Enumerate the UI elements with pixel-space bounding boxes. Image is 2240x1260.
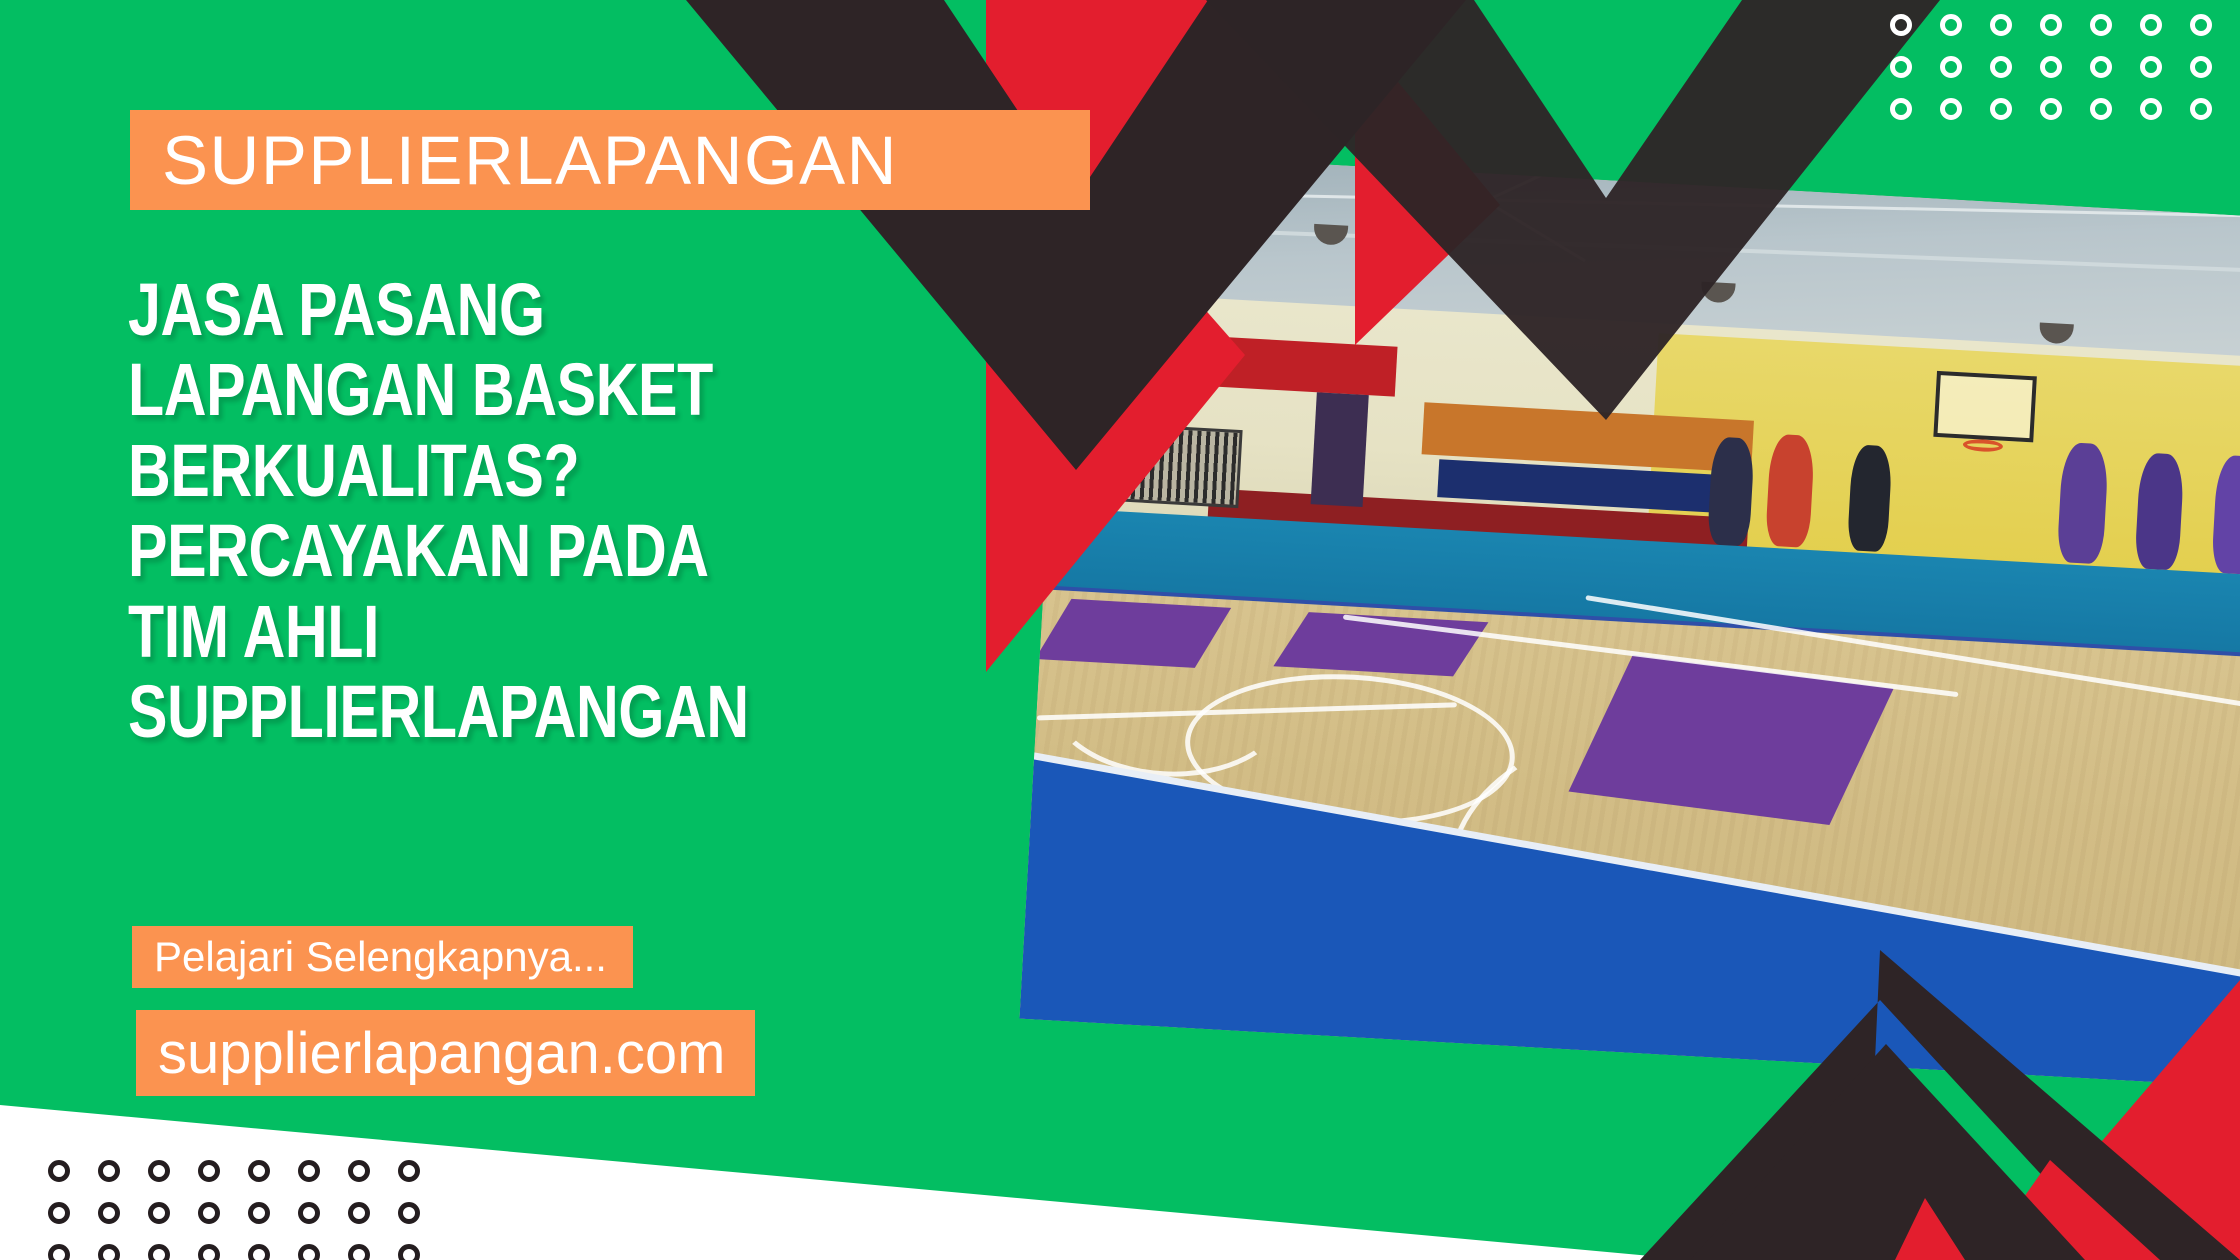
headline-line-1: JASA PASANG: [128, 272, 816, 347]
decorative-dot: [1890, 14, 1912, 36]
brand-badge: SUPPLIERLAPANGAN: [130, 110, 1090, 210]
brand-badge-label: SUPPLIERLAPANGAN: [130, 121, 898, 200]
decorative-dot: [2190, 56, 2212, 78]
decorative-dot: [48, 1244, 70, 1260]
headline-line-4: PERCAYAKAN PADA: [128, 513, 816, 588]
decorative-dot: [1940, 98, 1962, 120]
decorative-dot: [348, 1244, 370, 1260]
decorative-dot: [348, 1202, 370, 1224]
decorative-dot: [248, 1202, 270, 1224]
decorative-dot: [2040, 56, 2062, 78]
decorative-dot: [2140, 56, 2162, 78]
photo-poster: [1311, 392, 1369, 507]
decorative-dot: [98, 1202, 120, 1224]
decorative-dot: [1890, 56, 1912, 78]
decorative-dot: [198, 1244, 220, 1260]
decorative-dot: [2090, 56, 2112, 78]
decorative-dot: [1990, 98, 2012, 120]
decorative-dot: [2040, 98, 2062, 120]
dot-grid-top-right: [1890, 14, 2240, 140]
decorative-dot: [398, 1202, 420, 1224]
decorative-dot: [48, 1160, 70, 1182]
decorative-dot: [1990, 56, 2012, 78]
decorative-dot: [2090, 14, 2112, 36]
decorative-dot: [1940, 56, 1962, 78]
decorative-dot: [398, 1160, 420, 1182]
decorative-dot: [298, 1160, 320, 1182]
headline-line-2: LAPANGAN BASKET: [128, 352, 816, 427]
headline-line-5: TIM AHLI: [128, 594, 816, 669]
page-title: JASA PASANG LAPANGAN BASKET BERKUALITAS?…: [128, 272, 816, 755]
decorative-dot: [1940, 14, 1962, 36]
decorative-dot: [98, 1244, 120, 1260]
decorative-dot: [198, 1202, 220, 1224]
decorative-dot: [2140, 14, 2162, 36]
decorative-dot: [2190, 98, 2212, 120]
decorative-dot: [298, 1202, 320, 1224]
decorative-dot: [1990, 14, 2012, 36]
decorative-dot: [98, 1160, 120, 1182]
decorative-dot: [198, 1160, 220, 1182]
decorative-dot: [2140, 98, 2162, 120]
decorative-dot: [248, 1160, 270, 1182]
decorative-dot: [298, 1244, 320, 1260]
promo-banner: SUPPLIERLAPANGAN JASA PASANG LAPANGAN BA…: [0, 0, 2240, 1260]
decorative-dot: [1890, 98, 1912, 120]
decorative-dot: [2040, 14, 2062, 36]
decorative-dot: [2090, 98, 2112, 120]
decorative-dot: [148, 1160, 170, 1182]
headline-line-3: BERKUALITAS?: [128, 433, 816, 508]
photo-backboard: [1933, 371, 2037, 442]
website-url-button[interactable]: supplierlapangan.com: [136, 1010, 755, 1096]
headline-line-6: SUPPLIERLAPANGAN: [128, 674, 816, 749]
decorative-dot: [248, 1244, 270, 1260]
learn-more-label: Pelajari Selengkapnya...: [154, 933, 607, 981]
decorative-dot: [398, 1244, 420, 1260]
learn-more-button[interactable]: Pelajari Selengkapnya...: [132, 926, 633, 988]
decorative-dot: [148, 1244, 170, 1260]
dot-grid-bottom-left: [48, 1160, 448, 1260]
decorative-dot: [348, 1160, 370, 1182]
website-url-label: supplierlapangan.com: [158, 1020, 725, 1087]
decorative-dot: [2190, 14, 2212, 36]
decorative-dot: [148, 1202, 170, 1224]
decorative-dot: [48, 1202, 70, 1224]
